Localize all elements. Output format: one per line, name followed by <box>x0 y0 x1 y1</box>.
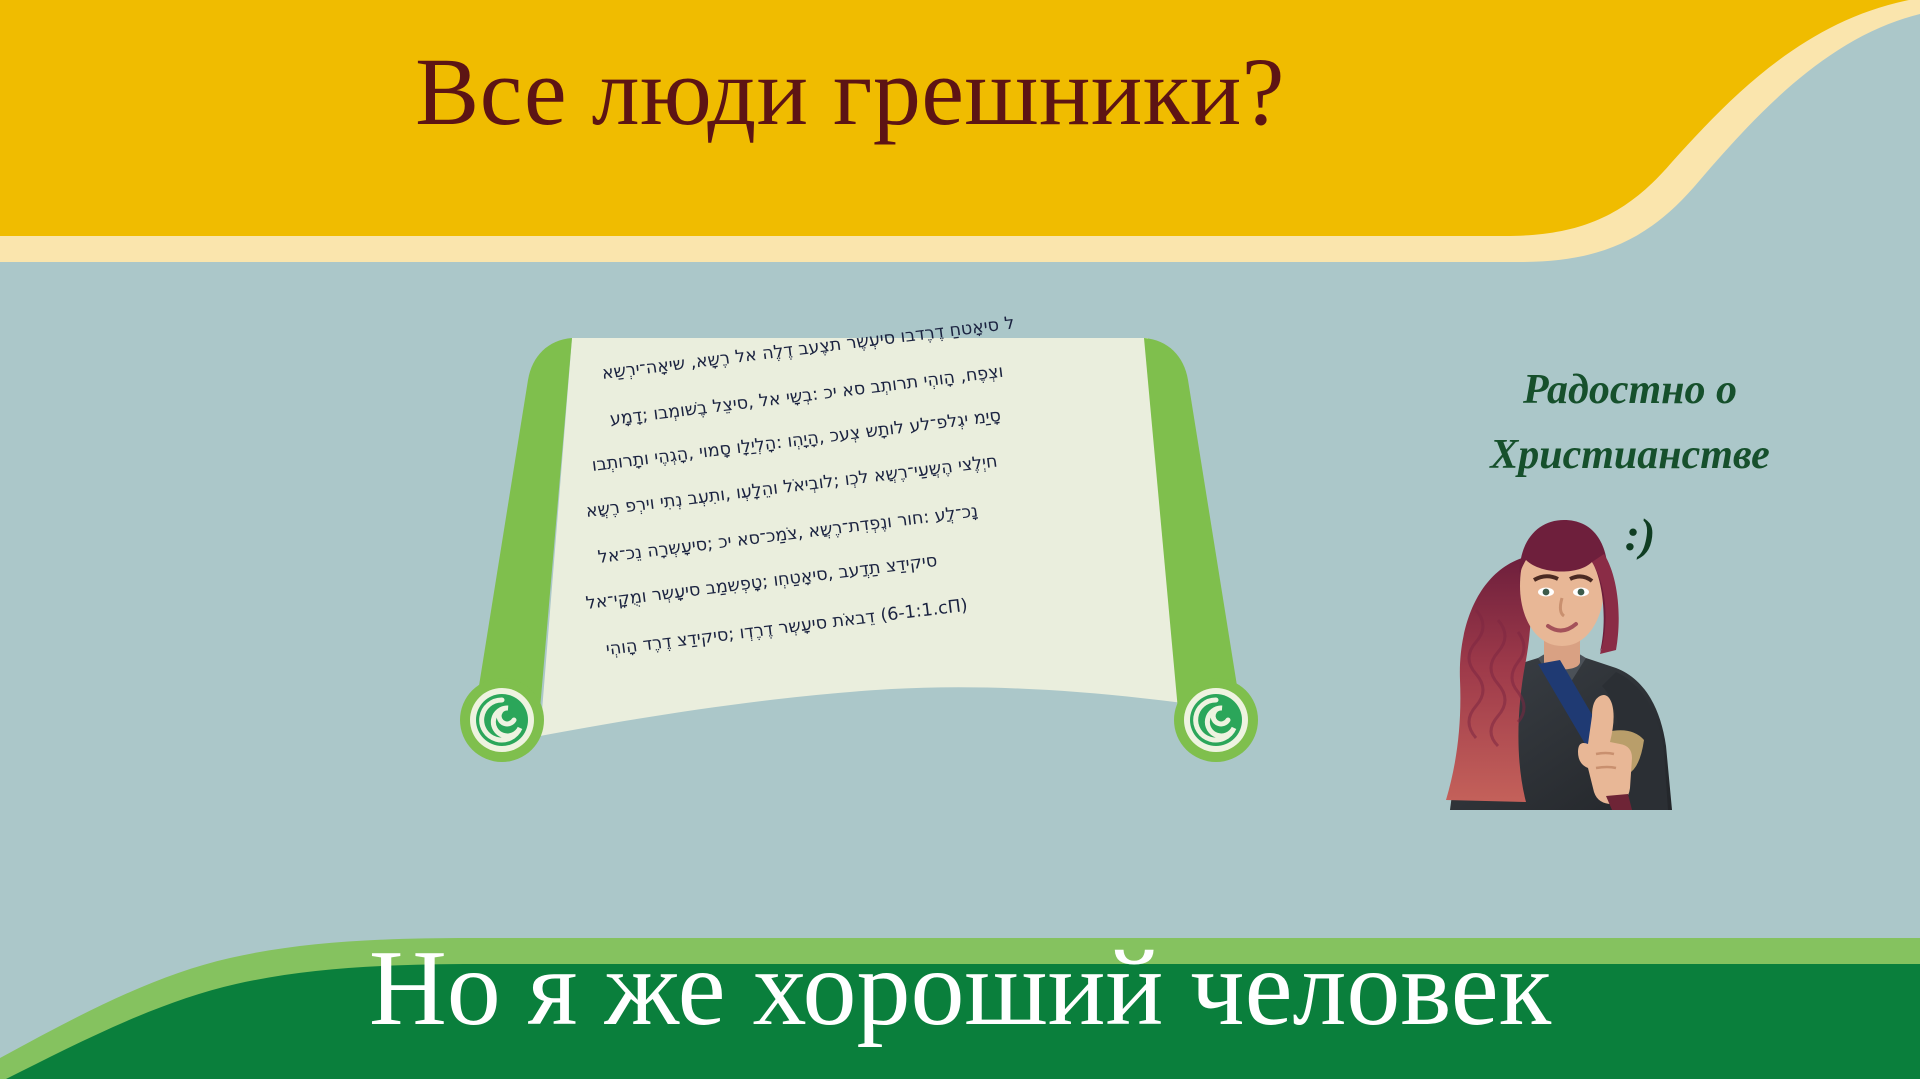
torah-scroll-graphic: ל סיאָטחַ דֶרֶדבו סיעְשֶר תצֶעב דֶלֶה אל… <box>420 300 1300 760</box>
slide-canvas: Все люди грешники? <box>0 0 1920 1079</box>
hair-left <box>1446 558 1531 802</box>
side-note: Радостно о Христианстве <box>1430 358 1830 488</box>
top-banner: Все люди грешники? <box>0 0 1920 275</box>
hand-crease-1 <box>1596 753 1614 754</box>
bottom-banner: Но я же хороший человек <box>0 834 1920 1079</box>
woman-thumbs-up-photo <box>1410 500 1710 830</box>
page-title: Все люди грешники? <box>0 42 1700 143</box>
hand-crease-2 <box>1596 767 1616 768</box>
scroll-end-left <box>460 678 544 762</box>
pupil-left <box>1543 589 1550 596</box>
side-note-line1: Радостно о <box>1430 358 1830 423</box>
page-subtitle: Но я же хороший человек <box>0 932 1920 1045</box>
scroll-end-right <box>1174 678 1258 762</box>
scroll-paper <box>540 338 1220 736</box>
pupil-right <box>1578 589 1585 596</box>
side-note-line2: Христианстве <box>1430 423 1830 488</box>
